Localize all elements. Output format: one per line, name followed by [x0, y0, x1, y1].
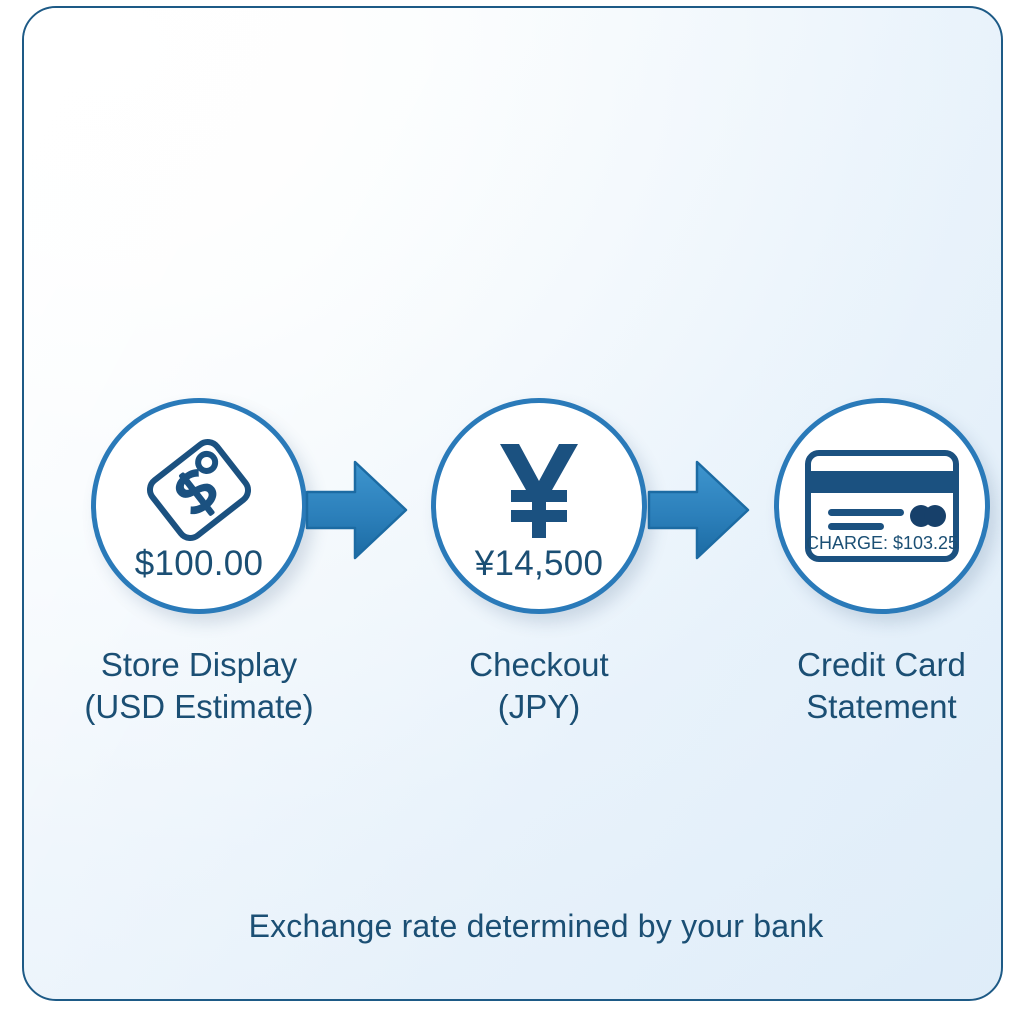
- step-1-store-display[interactable]: $100.00: [91, 398, 307, 614]
- yen-currency-icon: [476, 438, 602, 542]
- arrow-right-icon-2: [647, 456, 751, 564]
- arrow-right-icon-1: [305, 456, 409, 564]
- step-2-checkout[interactable]: ¥14,500: [431, 398, 647, 614]
- step-1-caption: Store Display (USD Estimate): [39, 644, 359, 728]
- step-1-value: $100.00: [135, 546, 264, 581]
- diagram-frame: $100.00: [22, 6, 1003, 1001]
- credit-card-icon: CHARGE: $103.25: [802, 447, 962, 565]
- step-3-caption: Credit Card Statement: [724, 644, 1003, 728]
- step-2-circle: ¥14,500: [431, 398, 647, 614]
- step-1-circle: $100.00: [91, 398, 307, 614]
- price-tag-dollar-icon: [136, 438, 262, 542]
- step-3-credit-card-statement[interactable]: CHARGE: $103.25: [774, 398, 990, 614]
- credit-card-charge-text: CHARGE: $103.25: [806, 533, 958, 553]
- step-2-value: ¥14,500: [475, 546, 604, 581]
- step-2-caption: Checkout (JPY): [384, 644, 694, 728]
- footer-note: Exchange rate determined by your bank: [24, 908, 1003, 945]
- step-captions: Store Display (USD Estimate) Checkout (J…: [24, 644, 1003, 754]
- flow-row: $100.00: [24, 398, 1003, 633]
- step-3-circle: CHARGE: $103.25: [774, 398, 990, 614]
- currency-conversion-infographic: $100.00: [0, 0, 1024, 1024]
